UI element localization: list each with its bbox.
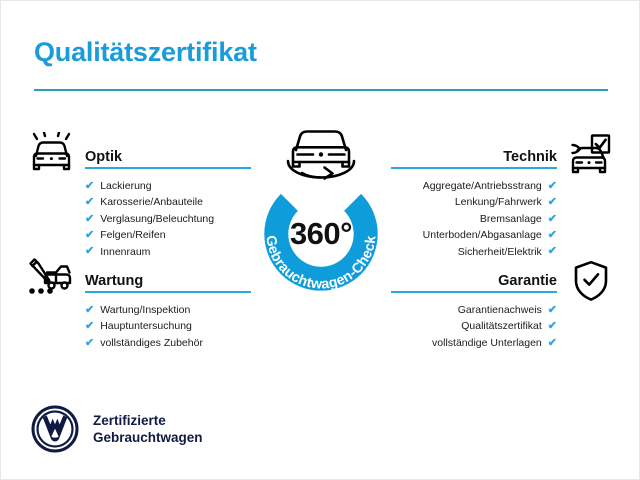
list-item: Lenkung/Fahrwerk ✔	[391, 194, 557, 210]
check-icon: ✔	[85, 181, 94, 192]
list-item-label: Lenkung/Fahrwerk	[455, 194, 542, 210]
list-item-label: Aggregate/Antriebsstrang	[423, 178, 542, 194]
quality-certificate-page: Qualitätszertifikat	[0, 0, 640, 480]
footer-line-2: Gebrauchtwagen	[93, 429, 203, 446]
section-technik-list: Aggregate/Antriebsstrang ✔ Lenkung/Fahrw…	[391, 178, 557, 260]
list-item: ✔ Hauptuntersuchung	[85, 318, 251, 334]
list-item-label: Felgen/Reifen	[100, 227, 165, 243]
list-item: ✔ Karosserie/Anbauteile	[85, 194, 251, 210]
section-garantie-header: Garantie	[391, 267, 557, 293]
section-garantie-list: Garantienachweis ✔ Qualitätszertifikat ✔…	[391, 302, 557, 351]
check-icon: ✔	[548, 197, 557, 208]
list-item: ✔ vollständiges Zubehör	[85, 335, 251, 351]
list-item-label: Karosserie/Anbauteile	[100, 194, 203, 210]
footer-text: Zertifizierte Gebrauchtwagen	[93, 412, 203, 446]
list-item: ✔ Innenraum	[85, 244, 251, 260]
list-item-label: vollständiges Zubehör	[100, 335, 203, 351]
section-wartung-divider	[85, 291, 251, 293]
check-icon: ✔	[85, 338, 94, 349]
check-icon: ✔	[85, 246, 94, 257]
list-item-label: Hauptuntersuchung	[100, 318, 192, 334]
section-technik: Technik Aggregate/Antriebsstrang ✔ Lenku…	[391, 143, 557, 276]
section-optik-list: ✔ Lackierung ✔ Karosserie/Anbauteile ✔ V…	[85, 178, 251, 260]
list-item-label: Verglasung/Beleuchtung	[100, 211, 214, 227]
title-divider	[34, 89, 608, 91]
section-wartung-title: Wartung	[85, 273, 143, 289]
list-item: vollständige Unterlagen ✔	[391, 335, 557, 351]
check-icon: ✔	[548, 230, 557, 241]
check-icon: ✔	[548, 181, 557, 192]
list-item-label: Wartung/Inspektion	[100, 302, 190, 318]
section-wartung-list: ✔ Wartung/Inspektion ✔ Hauptuntersuchung…	[85, 302, 251, 351]
check-icon: ✔	[548, 321, 557, 332]
car-polish-icon	[28, 132, 74, 181]
list-item-label: Lackierung	[100, 178, 151, 194]
list-item: Unterboden/Abgasanlage ✔	[391, 227, 557, 243]
list-item: ✔ Lackierung	[85, 178, 251, 194]
list-item-label: Innenraum	[100, 244, 150, 260]
check-icon: ✔	[85, 214, 94, 225]
check-icon: ✔	[85, 230, 94, 241]
list-item: Sicherheit/Elektrik ✔	[391, 244, 557, 260]
list-item: Aggregate/Antriebsstrang ✔	[391, 178, 557, 194]
section-optik-divider	[85, 167, 251, 169]
list-item-label: vollständige Unterlagen	[432, 335, 542, 351]
section-optik-header: Optik	[85, 143, 251, 169]
check-icon: ✔	[85, 197, 94, 208]
check-icon: ✔	[548, 246, 557, 257]
check-icon: ✔	[85, 305, 94, 316]
check-icon: ✔	[548, 214, 557, 225]
section-wartung-header: Wartung	[85, 267, 251, 293]
car-service-oil-icon	[26, 256, 72, 305]
list-item: ✔ Verglasung/Beleuchtung	[85, 211, 251, 227]
list-item-label: Qualitätszertifikat	[461, 318, 542, 334]
section-technik-title: Technik	[503, 149, 557, 165]
section-optik-title: Optik	[85, 149, 122, 165]
list-item-label: Unterboden/Abgasanlage	[423, 227, 542, 243]
page-title: Qualitätszertifikat	[34, 37, 257, 68]
section-technik-divider	[391, 167, 557, 169]
list-item-label: Sicherheit/Elektrik	[458, 244, 542, 260]
list-item-label: Bremsanlage	[480, 211, 542, 227]
footer-line-1: Zertifizierte	[93, 412, 203, 429]
car-checkbox-icon	[567, 134, 611, 181]
list-item: ✔ Felgen/Reifen	[85, 227, 251, 243]
section-technik-header: Technik	[391, 143, 557, 169]
check-icon: ✔	[548, 338, 557, 349]
section-garantie-title: Garantie	[498, 273, 557, 289]
vw-logo-icon	[31, 405, 79, 453]
section-optik: Optik ✔ Lackierung ✔ Karosserie/Anbautei…	[85, 143, 251, 276]
car-front-rotate-icon	[272, 123, 370, 185]
list-item-label: Garantienachweis	[458, 302, 542, 318]
list-item: Bremsanlage ✔	[391, 211, 557, 227]
check-icon: ✔	[548, 305, 557, 316]
section-garantie: Garantie Garantienachweis ✔ Qualitätszer…	[391, 267, 557, 367]
footer-brand: Zertifizierte Gebrauchtwagen	[31, 405, 203, 453]
list-item: ✔ Wartung/Inspektion	[85, 302, 251, 318]
section-wartung: Wartung ✔ Wartung/Inspektion ✔ Hauptunte…	[85, 267, 251, 367]
list-item: Qualitätszertifikat ✔	[391, 318, 557, 334]
list-item: Garantienachweis ✔	[391, 302, 557, 318]
section-garantie-divider	[391, 291, 557, 293]
check-icon: ✔	[85, 321, 94, 332]
shield-check-icon	[573, 260, 609, 307]
